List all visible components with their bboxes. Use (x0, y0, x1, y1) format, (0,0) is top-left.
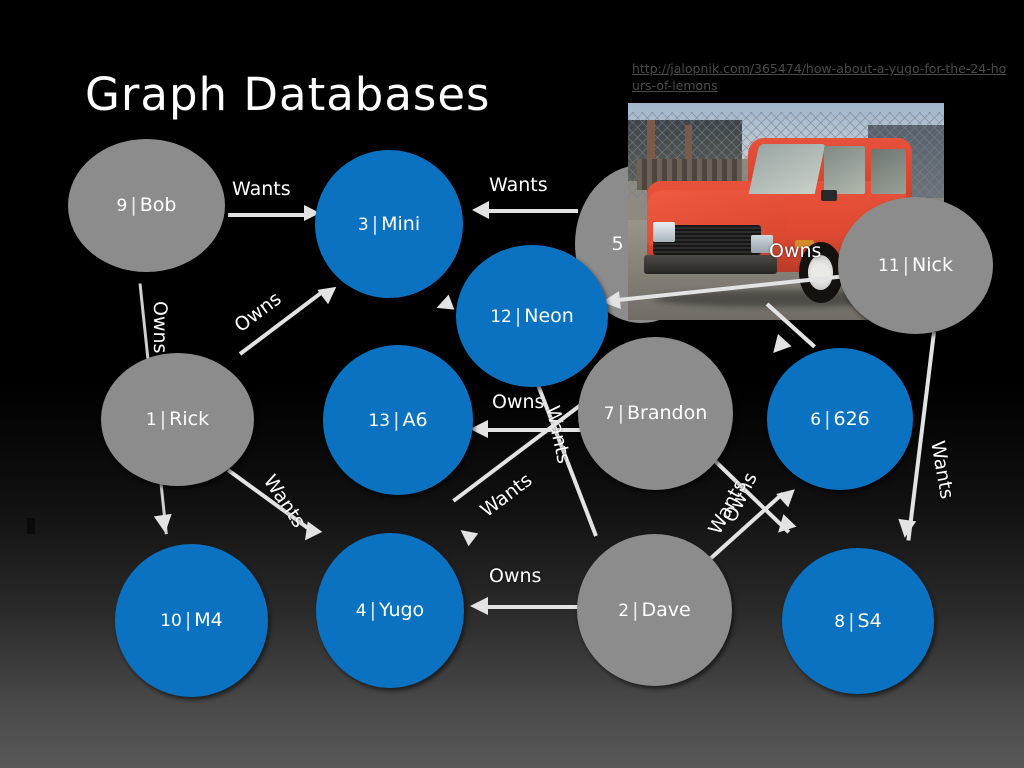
page-title: Graph Databases (85, 68, 491, 121)
node-label: 9|Bob (117, 195, 177, 216)
edge-label-brandon-owns-a6: Owns (492, 391, 544, 413)
node-12-neon[interactable]: 12|Neon (456, 245, 608, 387)
edge-label-five-wants-mini: Wants (489, 174, 548, 196)
node-label: 7|Brandon (604, 403, 708, 424)
source-url-link[interactable]: http://jalopnik.com/365474/how-about-a-y… (632, 60, 1012, 94)
node-label: 1|Rick (146, 409, 209, 430)
arrowhead-dave-owns-626 (776, 483, 801, 508)
node-label: 10|M4 (160, 610, 223, 631)
node-10-m4[interactable]: 10|M4 (115, 544, 268, 697)
node-label: 12|Neon (490, 306, 574, 327)
arrowhead-nick-wants-s4 (896, 519, 916, 539)
node-1-rick[interactable]: 1|Rick (101, 353, 254, 486)
node-label: 8|S4 (834, 611, 881, 632)
edge-bob-wants-mini (228, 213, 310, 217)
edge-label-rick-wants-yugo: Wants (259, 471, 310, 532)
node-9-bob[interactable]: 9|Bob (68, 139, 225, 272)
edge-label-nick-wants-s4: Wants (926, 439, 958, 501)
arrowhead-bob-owns-m4 (154, 514, 174, 534)
node-4-yugo[interactable]: 4|Yugo (316, 533, 464, 688)
edge-brandon-owns-a6 (487, 428, 593, 432)
node-label: 6|626 (810, 409, 870, 430)
node-label: 4|Yugo (356, 600, 424, 621)
node-3-mini[interactable]: 3|Mini (315, 150, 463, 298)
node-6-626[interactable]: 6|626 (767, 348, 913, 490)
node-2-dave[interactable]: 2|Dave (577, 534, 732, 686)
edge-label-bob-wants-mini: Wants (232, 178, 291, 200)
edge-five-wants-mini (488, 209, 578, 213)
edge-label-bob-owns-m4: Owns (149, 301, 171, 353)
edge-label-nick-owns-neon-overlay: Owns (769, 240, 821, 262)
node-11-nick[interactable]: 11|Nick (838, 197, 993, 334)
node-label: 11|Nick (878, 255, 953, 276)
node-8-s4[interactable]: 8|S4 (782, 548, 934, 694)
stray-artifact (27, 518, 35, 534)
edge-label-rick-owns-mini: Owns (230, 288, 285, 337)
node-label: 2|Dave (618, 600, 690, 621)
arrowhead-dave-owns-yugo (470, 597, 488, 615)
arrowhead-nick-owns-626-overlay (767, 334, 792, 359)
arrowhead-brandon-wants-neon (434, 295, 455, 316)
edge-dave-owns-yugo (488, 605, 584, 609)
arrowhead-rick-owns-mini (317, 280, 341, 305)
edge-nick-wants-s4 (906, 332, 936, 541)
node-label: 13|A6 (368, 410, 427, 431)
edge-label-dave-owns-yugo: Owns (489, 565, 541, 587)
slide-canvas: Graph Databases http://jalopnik.com/3654… (0, 0, 1024, 768)
node-13-a6[interactable]: 13|A6 (323, 345, 473, 495)
arrowhead-dave-wants-a6 (456, 524, 478, 546)
node-7-brandon[interactable]: 7|Brandon (578, 337, 733, 490)
arrowhead-five-wants-mini (472, 201, 489, 219)
node-label: 5 (611, 234, 623, 255)
node-label: 3|Mini (358, 214, 420, 235)
